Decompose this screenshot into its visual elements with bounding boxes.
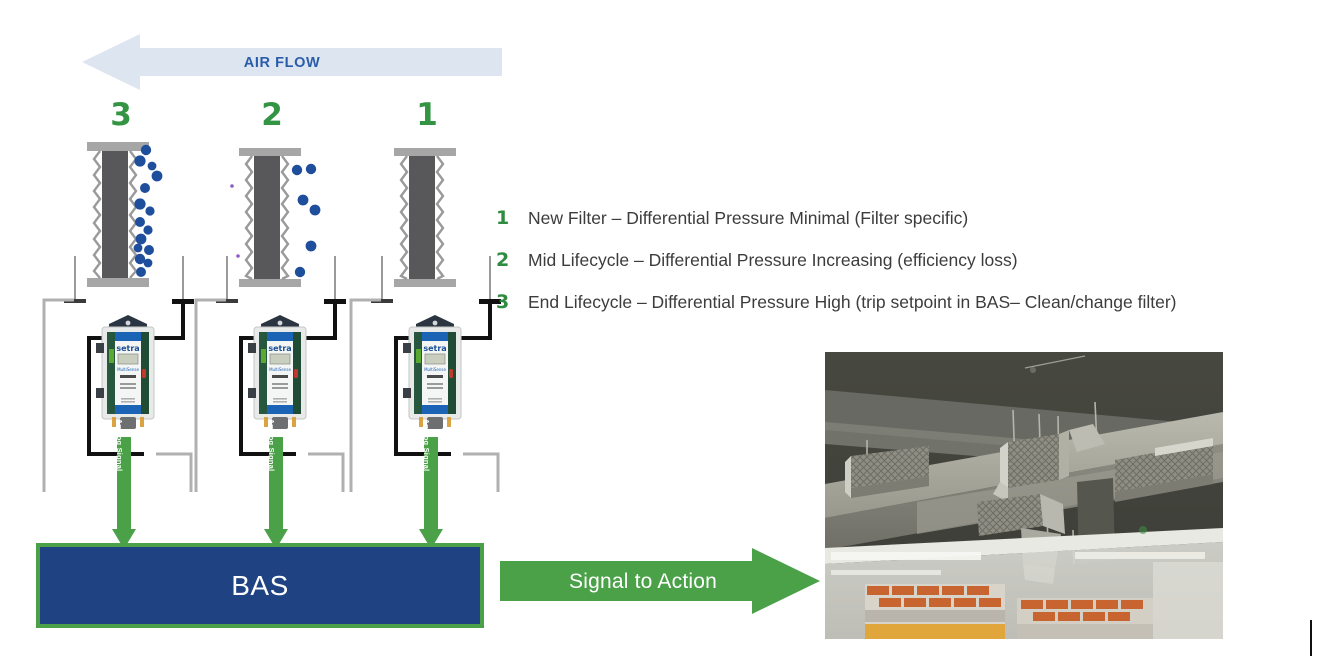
legend-item-2: 2 Mid Lifecycle – Differential Pressure … bbox=[496, 249, 1320, 291]
svg-text:MultiSense: MultiSense bbox=[117, 367, 139, 372]
station-number-1: 1 bbox=[407, 97, 447, 133]
station-number-2: 2 bbox=[252, 97, 292, 133]
analog-signal-arrow-3: Analog Signal bbox=[112, 437, 136, 549]
legend: 1 New Filter – Differential Pressure Min… bbox=[496, 207, 1320, 333]
probe-downstream-3 bbox=[170, 256, 196, 308]
air-flow-label: AIR FLOW bbox=[212, 55, 352, 71]
sensor-device-3: setra MultiSense bbox=[91, 313, 165, 435]
probe-upstream-1 bbox=[369, 256, 395, 308]
legend-number-1: 1 bbox=[496, 207, 528, 229]
legend-item-1: 1 New Filter – Differential Pressure Min… bbox=[496, 207, 1320, 249]
probe-downstream-2 bbox=[322, 256, 348, 308]
svg-text:MultiSense: MultiSense bbox=[424, 367, 446, 372]
sensor-device-2: setra MultiSense bbox=[243, 313, 317, 435]
edge-tick-mark bbox=[1310, 620, 1312, 656]
legend-number-3: 3 bbox=[496, 291, 528, 313]
legend-text-1: New Filter – Differential Pressure Minim… bbox=[528, 208, 968, 229]
legend-text-2: Mid Lifecycle – Differential Pressure In… bbox=[528, 250, 1018, 271]
svg-text:setra: setra bbox=[116, 344, 139, 353]
legend-text-3: End Lifecycle – Differential Pressure Hi… bbox=[528, 292, 1176, 313]
signal-to-action-label: Signal to Action bbox=[518, 570, 768, 594]
duct-photo bbox=[825, 352, 1223, 639]
probe-upstream-3 bbox=[62, 256, 88, 308]
analog-signal-label-3: Analog Signal bbox=[115, 419, 124, 472]
analog-signal-label-1: Analog Signal bbox=[422, 419, 431, 472]
svg-text:setra: setra bbox=[423, 344, 446, 353]
probe-upstream-2 bbox=[214, 256, 240, 308]
bas-box: BAS bbox=[36, 543, 484, 628]
bas-label: BAS bbox=[231, 570, 289, 602]
analog-signal-arrow-2: Analog Signal bbox=[264, 437, 288, 549]
station-number-3: 3 bbox=[101, 97, 141, 133]
legend-number-2: 2 bbox=[496, 249, 528, 271]
legend-item-3: 3 End Lifecycle – Differential Pressure … bbox=[496, 291, 1320, 333]
analog-signal-arrow-1: Analog Signal bbox=[419, 437, 443, 549]
analog-signal-label-2: Analog Signal bbox=[267, 419, 276, 472]
svg-text:MultiSense: MultiSense bbox=[269, 367, 291, 372]
sensor-device-1: setra MultiSense bbox=[398, 313, 472, 435]
filter-lifecycle-diagram: AIR FLOW 3 2 1 bbox=[0, 0, 1320, 661]
svg-text:setra: setra bbox=[268, 344, 291, 353]
